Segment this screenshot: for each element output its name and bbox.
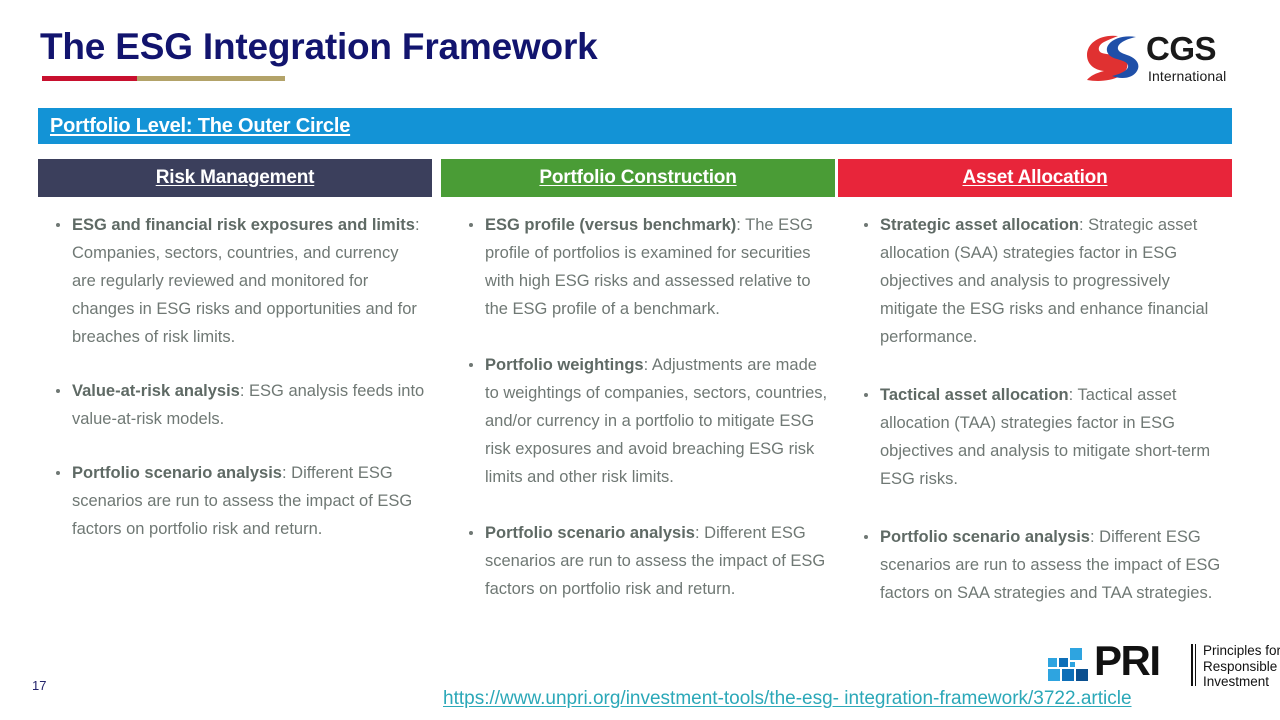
- column-portfolio-construction: Portfolio Construction ESG profile (vers…: [441, 159, 835, 631]
- column-asset-allocation: Asset Allocation Strategic asset allocat…: [838, 159, 1232, 637]
- pri-divider-bars: [1191, 644, 1196, 686]
- column-header-risk-management: Risk Management: [38, 159, 432, 197]
- title-rule-red-segment: [42, 76, 137, 81]
- bullet-body: : Adjustments are made to weightings of …: [485, 356, 827, 486]
- column-header-asset-allocation: Asset Allocation: [838, 159, 1232, 197]
- column-header-label: Asset Allocation: [963, 167, 1108, 189]
- list-item: Tactical asset allocation: Tactical asse…: [858, 381, 1226, 493]
- bullet-lead: Strategic asset allocation: [880, 216, 1079, 234]
- column-bullets: Strategic asset allocation: Strategic as…: [838, 211, 1232, 607]
- bullet-lead: Value-at-risk analysis: [72, 382, 240, 400]
- bullet-lead: ESG and financial risk exposures and lim…: [72, 216, 415, 234]
- bullet-lead: ESG profile (versus benchmark): [485, 216, 736, 234]
- pri-logo: PRI Principles for Responsible Investmen…: [1048, 644, 1280, 694]
- page-number: 17: [32, 678, 46, 693]
- pri-tagline-line-1: Principles for: [1203, 643, 1280, 659]
- bullet-lead: Portfolio scenario analysis: [880, 528, 1090, 546]
- list-item: Portfolio weightings: Adjustments are ma…: [463, 351, 829, 491]
- bullet-lead: Portfolio weightings: [485, 356, 644, 374]
- cgs-subtitle: International: [1148, 68, 1226, 84]
- section-banner: Portfolio Level: The Outer Circle: [38, 108, 1232, 144]
- title-rule-gold-segment: [137, 76, 285, 81]
- page-title: The ESG Integration Framework: [40, 26, 598, 68]
- pri-tagline-line-2: Responsible: [1203, 659, 1280, 675]
- bullet-lead: Portfolio scenario analysis: [485, 524, 695, 542]
- bullet-lead: Portfolio scenario analysis: [72, 464, 282, 482]
- title-underline-rule: [42, 76, 285, 81]
- list-item: Strategic asset allocation: Strategic as…: [858, 211, 1226, 351]
- column-header-label: Portfolio Construction: [539, 167, 736, 189]
- list-item: Value-at-risk analysis: ESG analysis fee…: [50, 377, 426, 433]
- bullet-body: : Companies, sectors, countries, and cur…: [72, 216, 420, 346]
- cgs-wordmark: CGS: [1146, 32, 1216, 65]
- section-banner-label: Portfolio Level: The Outer Circle: [50, 115, 350, 138]
- list-item: ESG and financial risk exposures and lim…: [50, 211, 426, 351]
- bullet-lead: Tactical asset allocation: [880, 386, 1069, 404]
- cgs-swirl-icon: [1084, 33, 1140, 83]
- pri-tagline: Principles for Responsible Investment: [1203, 643, 1280, 690]
- pri-squares-icon: [1048, 648, 1092, 688]
- source-url-link[interactable]: https://www.unpri.org/investment-tools/t…: [443, 688, 1132, 710]
- list-item: ESG profile (versus benchmark): The ESG …: [463, 211, 829, 323]
- column-header-label: Risk Management: [156, 167, 315, 189]
- column-header-portfolio-construction: Portfolio Construction: [441, 159, 835, 197]
- column-risk-management: Risk Management ESG and financial risk e…: [38, 159, 432, 569]
- list-item: Portfolio scenario analysis: Different E…: [858, 523, 1226, 607]
- pri-tagline-line-3: Investment: [1203, 674, 1280, 690]
- bullet-body: : Strategic asset allocation (SAA) strat…: [880, 216, 1208, 346]
- list-item: Portfolio scenario analysis: Different E…: [463, 519, 829, 603]
- cgs-international-logo: CGS International: [1084, 30, 1234, 92]
- list-item: Portfolio scenario analysis: Different E…: [50, 459, 426, 543]
- column-bullets: ESG and financial risk exposures and lim…: [38, 211, 432, 543]
- column-bullets: ESG profile (versus benchmark): The ESG …: [441, 211, 835, 603]
- pri-wordmark: PRI: [1094, 640, 1160, 682]
